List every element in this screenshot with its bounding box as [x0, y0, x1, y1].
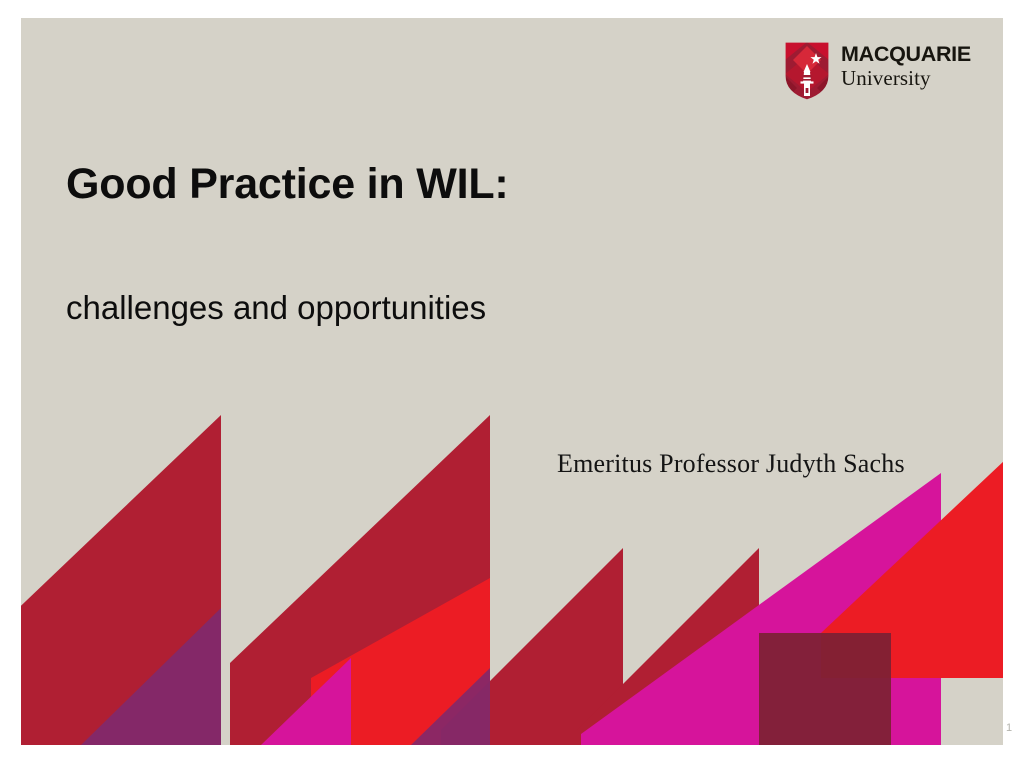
deco-shape-maroon-overlap-right — [759, 633, 891, 745]
deco-shape-bright-red-center — [311, 578, 490, 745]
slide-canvas: MACQUARIE University Good Practice in WI… — [21, 18, 1003, 745]
logo-wordmark: MACQUARIE University — [841, 40, 971, 89]
diagonal-parallelogram-band — [21, 18, 1003, 745]
deco-shape-crimson-2 — [230, 415, 490, 745]
slide-subtitle: challenges and opportunities — [66, 290, 866, 326]
deco-shape-crimson-3 — [441, 548, 623, 745]
deco-shape-crimson-4 — [577, 548, 759, 745]
deco-shape-purple-overlap-mid — [411, 668, 490, 745]
macquarie-university-logo: MACQUARIE University — [783, 40, 983, 112]
presentation-slide-root: MACQUARIE University Good Practice in WI… — [0, 0, 1024, 768]
deco-shape-purple-overlap-left — [81, 608, 221, 745]
deco-shape-magenta-center — [261, 658, 351, 745]
deco-shape-magenta-right — [581, 473, 941, 745]
slide-title: Good Practice in WIL: — [66, 161, 866, 208]
logo-main-text: MACQUARIE — [841, 44, 971, 66]
deco-shape-crimson-1 — [21, 415, 221, 745]
page-number: 1 — [1006, 722, 1012, 734]
shield-lighthouse-star-icon — [783, 40, 831, 102]
presenter-name: Emeritus Professor Judyth Sachs — [557, 450, 987, 479]
logo-sub-text: University — [841, 68, 971, 89]
deco-shape-bright-red-right — [821, 398, 1003, 678]
